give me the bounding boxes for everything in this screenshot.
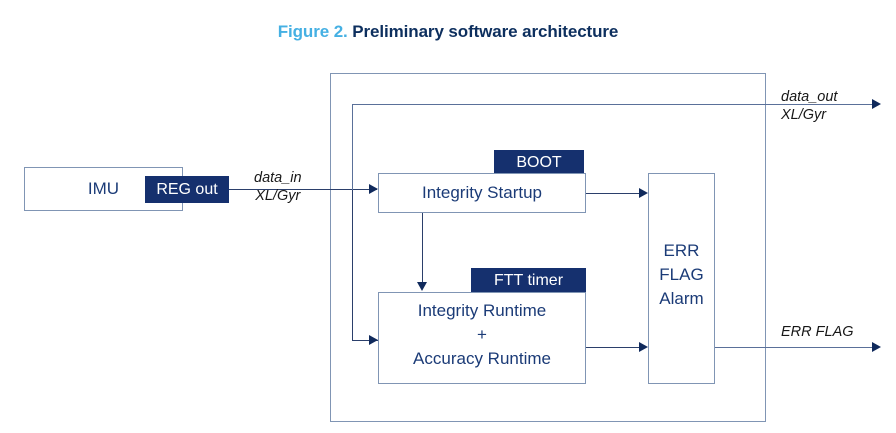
- integrity-startup-label: Integrity Startup: [379, 183, 585, 204]
- err-flag-out-label: ERR FLAG: [781, 323, 854, 341]
- integrity-runtime-box: Integrity Runtime + Accuracy Runtime: [378, 292, 586, 384]
- runtime-to-err-arrowhead: [639, 342, 648, 352]
- data-in-label: data_in XL/Gyr: [254, 169, 302, 205]
- figure-title: Figure 2. Preliminary software architect…: [0, 22, 896, 42]
- reg-out-label: REG out: [156, 181, 217, 199]
- err-flag-out-label-line1: ERR FLAG: [781, 323, 854, 341]
- err-flag-alarm-label-line3: Alarm: [649, 289, 714, 310]
- integrity-startup-box: Integrity Startup: [378, 173, 586, 213]
- err-flag-alarm-label-line1: ERR: [649, 241, 714, 262]
- integrity-runtime-label-line1: Integrity Runtime: [379, 301, 585, 322]
- err-flag-alarm-label-line2: FLAG: [649, 265, 714, 286]
- data-in-arrowhead: [369, 184, 378, 194]
- err-flag-alarm-box: ERR FLAG Alarm: [648, 173, 715, 384]
- data-in-branch-vertical: [352, 189, 353, 341]
- data-in-label-line1: data_in: [254, 169, 302, 187]
- err-flag-out-arrowhead: [872, 342, 881, 352]
- startup-to-runtime-wire: [422, 213, 423, 283]
- data-in-wire: [229, 189, 377, 190]
- data-out-arrowhead: [872, 99, 881, 109]
- boot-badge: BOOT: [494, 150, 584, 175]
- startup-to-runtime-arrowhead: [417, 282, 427, 291]
- data-in-branch-arrowhead: [369, 335, 378, 345]
- boot-label: BOOT: [516, 154, 561, 172]
- startup-to-err-arrowhead: [639, 188, 648, 198]
- startup-to-err-wire: [586, 193, 639, 194]
- data-out-label-line2: XL/Gyr: [781, 106, 837, 124]
- integrity-runtime-label-line3: Accuracy Runtime: [379, 349, 585, 370]
- integrity-runtime-label-line2: +: [379, 325, 585, 346]
- ftt-timer-badge: FTT timer: [471, 268, 586, 293]
- data-out-label: data_out XL/Gyr: [781, 88, 837, 124]
- data-out-label-line1: data_out: [781, 88, 837, 106]
- figure-canvas: Figure 2. Preliminary software architect…: [0, 0, 896, 433]
- data-out-riser: [352, 104, 353, 190]
- figure-caption: Preliminary software architecture: [352, 22, 618, 41]
- reg-out-badge: REG out: [145, 176, 229, 203]
- figure-number: Figure 2.: [278, 22, 348, 41]
- data-in-label-line2: XL/Gyr: [254, 187, 302, 205]
- runtime-to-err-wire: [586, 347, 639, 348]
- err-flag-out-wire: [715, 347, 874, 348]
- ftt-timer-label: FTT timer: [494, 272, 563, 290]
